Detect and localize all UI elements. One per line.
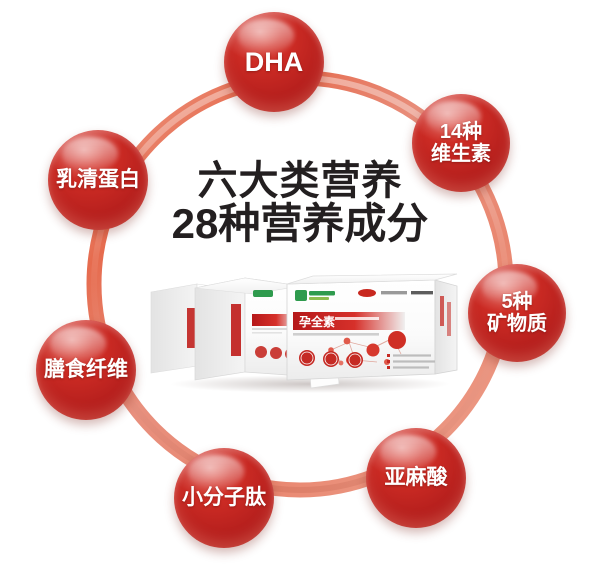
product-packshot: 孕全素: [135, 262, 465, 394]
badge-vitamin[interactable]: 14种 维生素: [412, 94, 510, 192]
badge-mineral-label: 5种 矿物质: [481, 291, 553, 336]
badge-dietary-fiber[interactable]: 膳食纤维: [36, 320, 136, 420]
badge-dha-label: DHA: [239, 47, 310, 77]
badge-small-molecule-peptide-label: 小分子肽: [176, 486, 272, 510]
badge-linolenic-acid-label: 亚麻酸: [379, 466, 454, 490]
badge-vitamin-label-sub: 维生素: [431, 143, 491, 165]
badge-mineral-label-sub: 矿物质: [487, 313, 547, 335]
badge-dietary-fiber-label: 膳食纤维: [38, 358, 134, 382]
product-box-mid-left: [195, 278, 301, 380]
badge-mineral[interactable]: 5种 矿物质: [468, 264, 566, 362]
badge-mineral-label-main: 5种: [501, 291, 532, 313]
badge-whey-protein-label: 乳清蛋白: [50, 168, 146, 192]
badge-vitamin-label: 14种 维生素: [425, 121, 497, 166]
badge-small-molecule-peptide[interactable]: 小分子肽: [174, 448, 274, 548]
promo-graphic: 六大类营养 28种营养成分: [0, 0, 600, 568]
badge-whey-protein[interactable]: 乳清蛋白: [48, 130, 148, 230]
svg-text:孕全素: 孕全素: [299, 314, 335, 329]
badge-dha[interactable]: DHA: [224, 12, 324, 112]
badge-vitamin-label-main: 14种: [440, 121, 482, 143]
product-box-front-main: 孕全素: [287, 274, 457, 380]
badge-linolenic-acid[interactable]: 亚麻酸: [366, 428, 466, 528]
